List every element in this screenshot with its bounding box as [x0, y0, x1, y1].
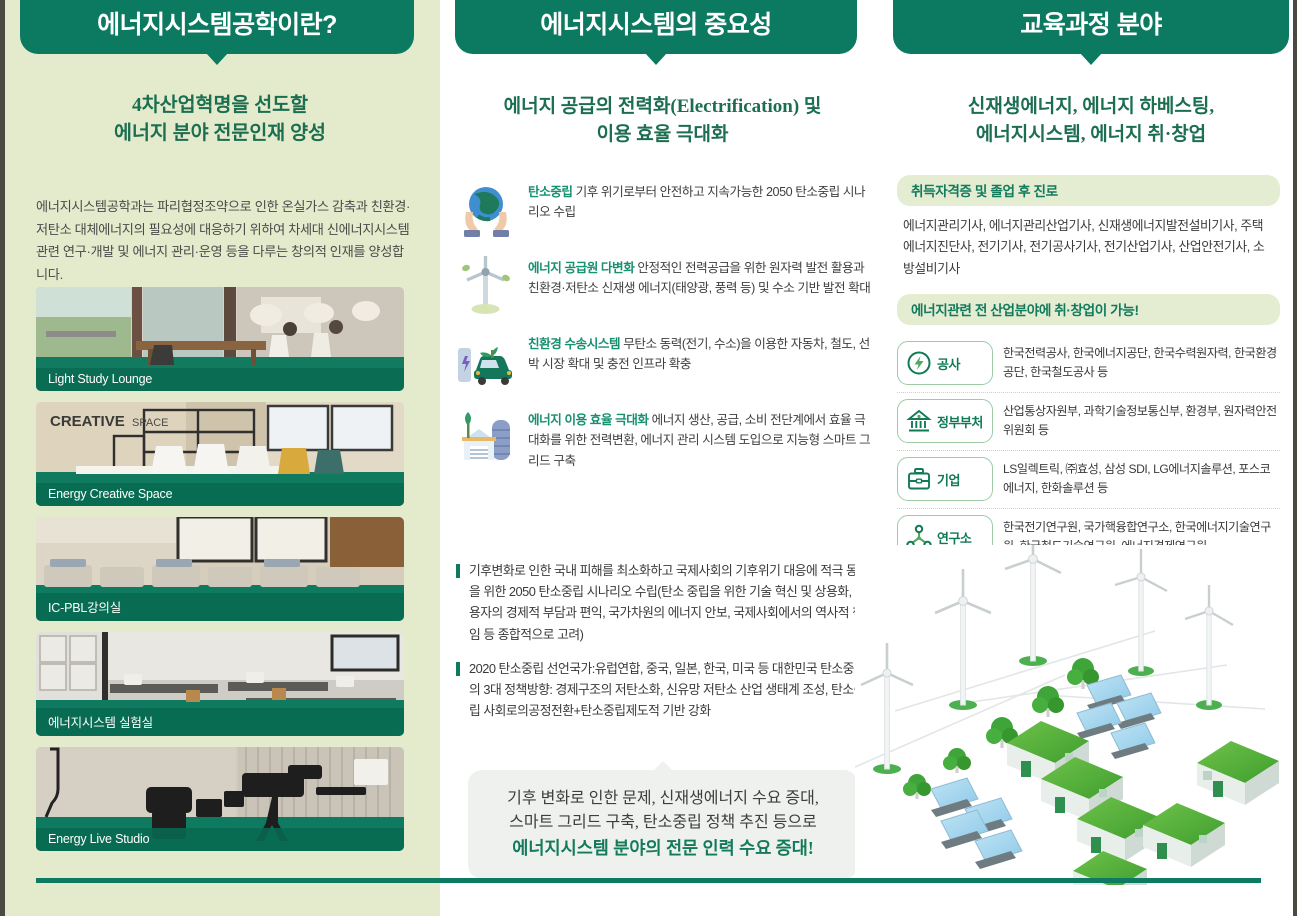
- importance-item-term: 친환경 수송시스템: [528, 337, 620, 351]
- svg-text:SPACE: SPACE: [132, 417, 168, 429]
- facility-photo: CREATIVE SPACE Energy Creative Space: [36, 402, 404, 506]
- demand-callout: 기후 변화로 인한 문제, 신재생에너지 수요 증대, 스마트 그리드 구축, …: [468, 770, 858, 879]
- importance-item-term: 탄소중립: [528, 185, 573, 199]
- importance-item-text: 에너지 이용 효율 극대화 에너지 생산, 공급, 소비 전단계에서 효율 극대…: [528, 406, 871, 471]
- importance-item-text: 탄소중립 기후 위기로부터 안전하고 지속가능한 2050 탄소중립 시나리오 …: [528, 178, 871, 240]
- career-row-text: 한국전력공사, 한국에너지공단, 한국수력원자력, 한국환경공단, 한국철도공사…: [1003, 344, 1280, 381]
- svg-text:CREATIVE: CREATIVE: [50, 413, 125, 430]
- certification-list-text: 에너지관리기사, 에너지관리산업기사, 신재생에너지발전설비기사, 주택에너지진…: [897, 215, 1280, 279]
- wind-turbine-icon: [456, 254, 516, 316]
- demand-callout-highlight: 에너지시스템 분야의 전문 인력 수요 증대!: [478, 835, 848, 861]
- importance-item-term: 에너지 이용 효율 극대화: [528, 413, 649, 427]
- career-title: 에너지관련 전 산업분야에 취·창업이 가능!: [897, 294, 1280, 325]
- column-curriculum: 교육과정 분야 신재생에너지, 에너지 하베스팅, 에너지시스템, 에너지 취·…: [885, 0, 1297, 916]
- facility-photo-caption: IC-PBL강의실: [36, 593, 404, 621]
- facility-photo-caption: Light Study Lounge: [36, 368, 404, 391]
- policy-note: 2020 탄소중립 선언국가:유럽연합, 중국, 일본, 한국, 미국 등 대한…: [456, 658, 870, 722]
- facility-photo-caption: 에너지시스템 실험실: [36, 708, 404, 736]
- importance-item: 친환경 수송시스템 무탄소 동력(전기, 수소)을 이용한 자동차, 철도, 선…: [456, 330, 871, 392]
- about-headline-line2: 에너지 분야 전문인재 양성: [0, 120, 440, 148]
- career-badge-label: 연구소: [937, 528, 971, 547]
- importance-headline-line2: 이용 효율 극대화: [440, 121, 885, 149]
- curriculum-headline: 신재생에너지, 에너지 하베스팅, 에너지시스템, 에너지 취·창업: [885, 93, 1297, 148]
- tab-curriculum: 교육과정 분야: [893, 0, 1289, 54]
- importance-item-list: 탄소중립 기후 위기로부터 안전하고 지속가능한 2050 탄소중립 시나리오 …: [456, 178, 871, 485]
- callout-notch: [653, 761, 673, 771]
- career-row: 정부부처 산업통상자원부, 과학기술정보통신부, 환경부, 원자력안전위원회 등: [897, 393, 1280, 451]
- facility-photo: Light Study Lounge: [36, 287, 404, 391]
- brochure-page: 에너지시스템공학이란? 4차산업혁명을 선도할 에너지 분야 전문인재 양성 에…: [0, 0, 1297, 916]
- policy-note: 기후변화로 인한 국내 피해를 최소화하고 국제사회의 기후위기 대응에 적극 …: [456, 560, 870, 645]
- career-row: 기업 LS일렉트릭, ㈜효성, 삼성 SDI, LG에너지솔루션, 포스코에너지…: [897, 451, 1280, 509]
- certification-title: 취득자격증 및 졸업 후 진로: [897, 175, 1280, 206]
- tab-about: 에너지시스템공학이란?: [20, 0, 414, 54]
- importance-item-text: 친환경 수송시스템 무탄소 동력(전기, 수소)을 이용한 자동차, 철도, 선…: [528, 330, 871, 392]
- tab-about-label: 에너지시스템공학이란?: [97, 13, 337, 38]
- government-building-icon: [906, 408, 932, 434]
- facility-photo: IC-PBL강의실: [36, 517, 404, 621]
- curriculum-headline-line2: 에너지시스템, 에너지 취·창업: [885, 121, 1297, 149]
- career-row-text: 산업통상자원부, 과학기술정보통신부, 환경부, 원자력안전위원회 등: [1003, 402, 1280, 439]
- importance-item-text: 에너지 공급원 다변화 안정적인 전력공급을 위한 원자력 발전 활용과 친환경…: [528, 254, 871, 316]
- facility-photo: Energy Live Studio: [36, 747, 404, 851]
- about-body-text: 에너지시스템공학과는 파리협정조약으로 인한 온실가스 감축과 친환경·저탄소 …: [36, 196, 414, 287]
- curriculum-headline-line1: 신재생에너지, 에너지 하베스팅,: [885, 93, 1297, 121]
- career-badge: 공사: [897, 341, 993, 385]
- tab-notch: [1080, 53, 1102, 65]
- about-headline: 4차산업혁명을 선도할 에너지 분야 전문인재 양성: [0, 92, 440, 149]
- importance-item-desc: 기후 위기로부터 안전하고 지속가능한 2050 탄소중립 시나리오 수립: [528, 185, 865, 219]
- career-row-text: LS일렉트릭, ㈜효성, 삼성 SDI, LG에너지솔루션, 포스코에너지, 한…: [1003, 460, 1280, 497]
- tab-importance-label: 에너지시스템의 중요성: [540, 13, 771, 38]
- earth-in-hands-icon: [456, 178, 516, 240]
- facility-photo-caption: Energy Live Studio: [36, 828, 404, 851]
- facility-photo: 에너지시스템 실험실: [36, 632, 404, 736]
- facility-photo-caption: Energy Creative Space: [36, 483, 404, 506]
- career-badge-label: 공사: [937, 354, 960, 373]
- briefcase-icon: [906, 466, 932, 492]
- bolt-circle-icon: [906, 350, 932, 376]
- importance-item: 에너지 공급원 다변화 안정적인 전력공급을 위한 원자력 발전 활용과 친환경…: [456, 254, 871, 316]
- career-badge-label: 정부부처: [937, 412, 983, 431]
- importance-item: 탄소중립 기후 위기로부터 안전하고 지속가능한 2050 탄소중립 시나리오 …: [456, 178, 871, 240]
- demand-callout-line1: 기후 변화로 인한 문제, 신재생에너지 수요 증대,: [478, 787, 848, 811]
- tab-importance: 에너지시스템의 중요성: [455, 0, 857, 54]
- facility-photo-list: Light Study Lounge: [36, 287, 404, 862]
- column-importance: 에너지시스템의 중요성 에너지 공급의 전력화(Electrification)…: [440, 0, 885, 916]
- ev-charging-car-icon: [456, 330, 516, 392]
- renewable-energy-village-illustration: [855, 545, 1297, 885]
- career-badge: 정부부처: [897, 399, 993, 443]
- importance-item-term: 에너지 공급원 다변화: [528, 261, 634, 275]
- about-headline-line1: 4차산업혁명을 선도할: [0, 92, 440, 120]
- demand-callout-line2: 스마트 그리드 구축, 탄소중립 정책 추진 등으로: [478, 811, 848, 835]
- importance-headline-line1: 에너지 공급의 전력화(Electrification) 및: [440, 93, 885, 121]
- tab-curriculum-label: 교육과정 분야: [1020, 13, 1161, 38]
- page-right-edge: [1293, 0, 1297, 916]
- page-left-edge: [0, 0, 5, 916]
- career-row: 공사 한국전력공사, 한국에너지공단, 한국수력원자력, 한국환경공단, 한국철…: [897, 335, 1280, 393]
- importance-headline: 에너지 공급의 전력화(Electrification) 및 이용 효율 극대화: [440, 93, 885, 148]
- footer-rule: [36, 878, 1261, 883]
- career-badge-label: 기업: [937, 470, 960, 489]
- career-section: 에너지관련 전 산업분야에 취·창업이 가능! 공사 한국전력공사, 한국에너지…: [897, 294, 1280, 566]
- importance-item: 에너지 이용 효율 극대화 에너지 생산, 공급, 소비 전단계에서 효율 극대…: [456, 406, 871, 471]
- policy-note-list: 기후변화로 인한 국내 피해를 최소화하고 국제사회의 기후위기 대응에 적극 …: [456, 560, 870, 735]
- certification-section: 취득자격증 및 졸업 후 진로 에너지관리기사, 에너지관리산업기사, 신재생에…: [897, 175, 1280, 279]
- tab-notch: [206, 53, 228, 65]
- smart-factory-icon: [456, 406, 516, 468]
- career-row-list: 공사 한국전력공사, 한국에너지공단, 한국수력원자력, 한국환경공단, 한국철…: [897, 335, 1280, 566]
- tab-notch: [645, 53, 667, 65]
- column-about: 에너지시스템공학이란? 4차산업혁명을 선도할 에너지 분야 전문인재 양성 에…: [0, 0, 440, 916]
- career-badge: 기업: [897, 457, 993, 501]
